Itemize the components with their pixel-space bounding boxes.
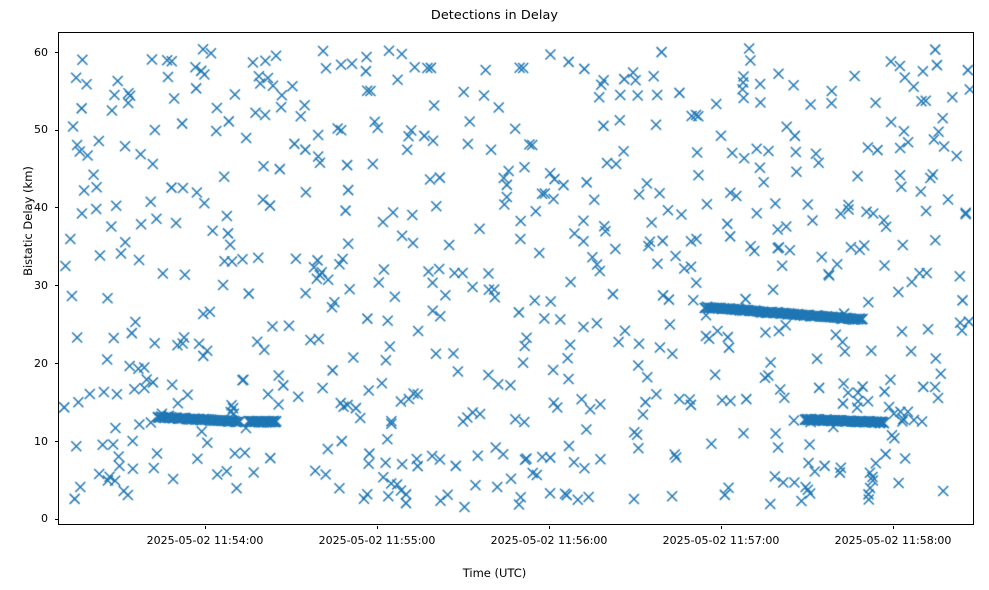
xtick-label: 2025-05-02 11:57:00 xyxy=(641,534,801,547)
xtick-mark xyxy=(721,526,722,530)
xtick-label: 2025-05-02 11:56:00 xyxy=(469,534,629,547)
xtick-mark xyxy=(893,526,894,530)
ytick-label: 0 xyxy=(8,513,48,524)
scatter-plot-canvas xyxy=(59,33,974,525)
ytick-label: 10 xyxy=(8,436,48,447)
xtick-mark xyxy=(205,526,206,530)
ytick-label: 60 xyxy=(8,47,48,58)
xtick-label: 2025-05-02 11:58:00 xyxy=(813,534,973,547)
xtick-mark xyxy=(377,526,378,530)
matplotlib-figure: Detections in Delay 60 50 40 30 20 10 0 … xyxy=(0,0,989,590)
xtick-label: 2025-05-02 11:54:00 xyxy=(125,534,285,547)
ytick-label: 50 xyxy=(8,124,48,135)
xtick-mark xyxy=(549,526,550,530)
x-axis-label: Time (UTC) xyxy=(0,566,989,580)
xtick-label: 2025-05-02 11:55:00 xyxy=(297,534,457,547)
page-title: Detections in Delay xyxy=(0,8,989,23)
ytick-label: 20 xyxy=(8,358,48,369)
y-axis-label: Bistatic Delay (km) xyxy=(21,141,35,301)
plot-axes xyxy=(58,32,974,525)
